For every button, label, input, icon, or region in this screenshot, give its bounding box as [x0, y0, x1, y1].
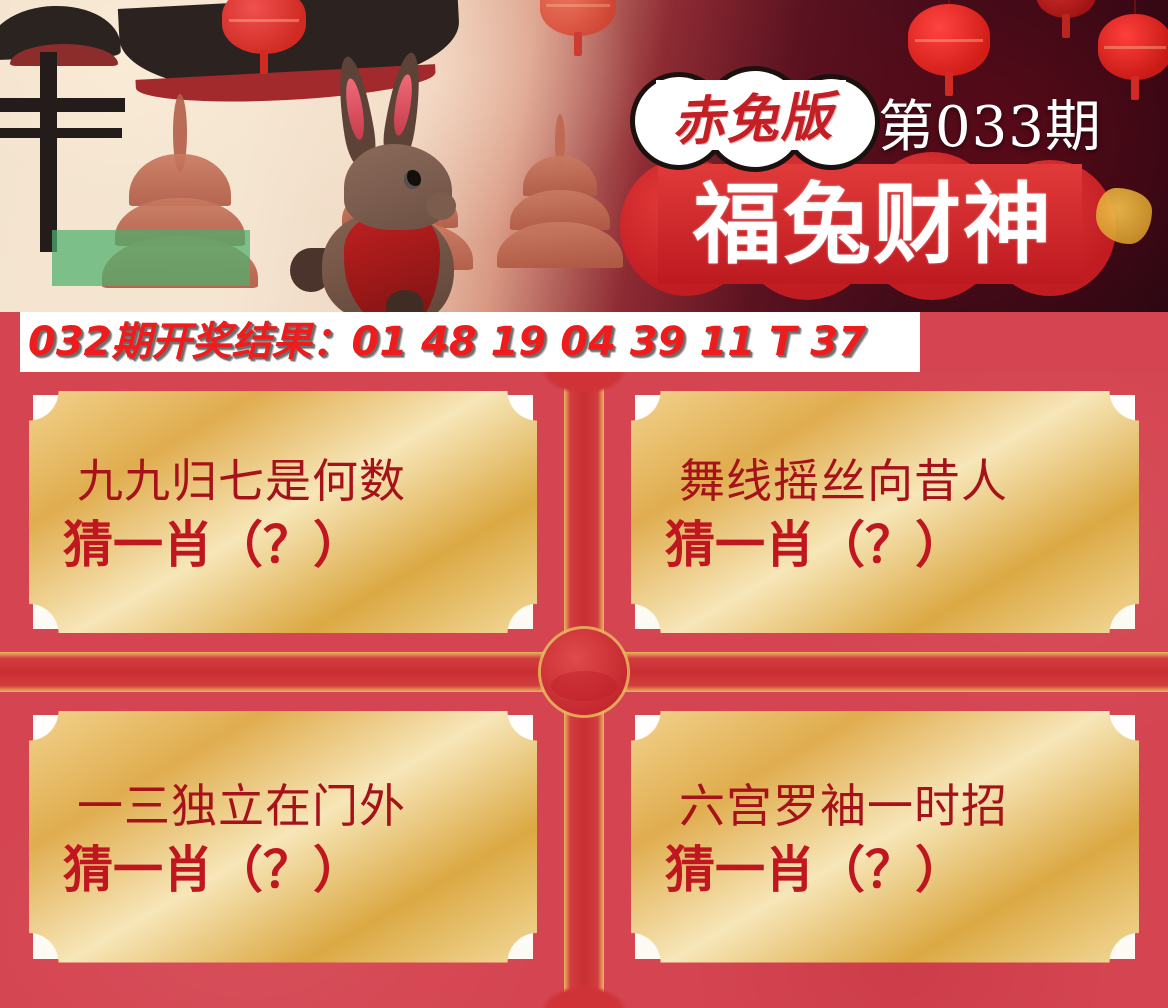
riddle-card-4[interactable]: 六宫罗袖一时招 猜一肖（？） — [632, 712, 1138, 962]
main-title-cloud: 福兔财神 — [618, 150, 1128, 300]
card-corner-mask — [33, 395, 533, 629]
riddle-card-2[interactable]: 舞线摇丝向昔人 猜一肖（？） — [632, 392, 1138, 632]
card-corner-mask — [33, 715, 533, 959]
riddle-card-1-body[interactable]: 九九归七是何数 猜一肖（？） — [30, 392, 536, 632]
poster-root: 赤兔版 第033期 福兔财神 032期开奖结果：01 48 19 04 39 1… — [0, 0, 1168, 1008]
censor-block — [52, 230, 250, 286]
torii-beam-upper-icon — [0, 98, 125, 112]
card-corner-mask — [635, 715, 1135, 959]
riddle-line-4: 六宫罗袖一时招 — [665, 782, 1105, 830]
ribbon-flare-bottom — [524, 976, 644, 1008]
riddle-line-2: 舞线摇丝向昔人 — [665, 457, 1105, 505]
riddle-grid: 九九归七是何数 猜一肖（？） 舞线摇丝向昔人 猜一肖（？） 一三独立在门外 猜一… — [0, 372, 1168, 1008]
riddle-line-3: 一三独立在门外 — [63, 782, 503, 830]
card-corner-mask — [635, 395, 1135, 629]
issue-number: 第033期 — [878, 100, 1102, 156]
rabbit-illustration — [286, 52, 496, 310]
header-banner: 赤兔版 第033期 福兔财神 — [0, 0, 1168, 312]
lantern-icon-4 — [1098, 14, 1168, 80]
riddle-card-3[interactable]: 一三独立在门外 猜一肖（？） — [30, 712, 536, 962]
torii-post-icon — [40, 52, 57, 252]
ribbon-flare-top — [524, 370, 644, 404]
torii-beam-lower-icon — [0, 128, 122, 138]
rabbit-muzzle-icon — [426, 192, 456, 220]
draw-result-text: 032期开奖结果：01 48 19 04 39 11 T 37 — [28, 322, 866, 362]
riddle-line-1: 九九归七是何数 — [63, 457, 503, 505]
riddle-card-1[interactable]: 九九归七是何数 猜一肖（？） — [30, 392, 536, 632]
lantern-icon-3 — [908, 4, 990, 76]
rabbit-eye-icon — [404, 170, 421, 189]
guess-line-2: 猜一肖（？） — [665, 519, 1105, 572]
edition-badge: 赤兔版 — [630, 66, 876, 162]
guess-line-3: 猜一肖（？） — [63, 844, 503, 897]
riddle-card-3-body[interactable]: 一三独立在门外 猜一肖（？） — [30, 712, 536, 962]
riddle-card-4-body[interactable]: 六宫罗袖一时招 猜一肖（？） — [632, 712, 1138, 962]
edition-badge-label: 赤兔版 — [628, 62, 877, 167]
riddle-card-2-body[interactable]: 舞线摇丝向昔人 猜一肖（？） — [632, 392, 1138, 632]
guess-line-4: 猜一肖（？） — [665, 844, 1105, 897]
ribbon-knot-center — [541, 629, 627, 715]
guess-line-1: 猜一肖（？） — [63, 519, 503, 572]
main-title: 福兔财神 — [618, 150, 1128, 300]
draw-result-bar: 032期开奖结果：01 48 19 04 39 11 T 37 — [20, 312, 920, 372]
